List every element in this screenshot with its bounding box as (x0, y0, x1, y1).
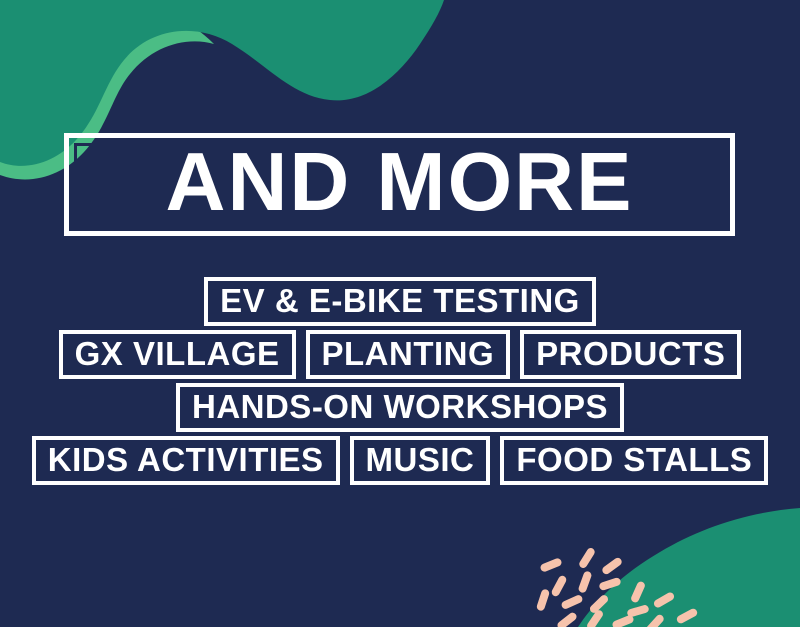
confetti-cluster (536, 547, 699, 627)
tag-box: GX VILLAGE (59, 330, 296, 379)
tag-row-1: EV & E-BIKE TESTING (0, 277, 800, 326)
tag-label: FOOD STALLS (516, 443, 752, 479)
tag-row-2: GX VILLAGE PLANTING PRODUCTS (0, 330, 800, 379)
tag-box: KIDS ACTIVITIES (32, 436, 340, 485)
tag-label: PLANTING (322, 337, 495, 373)
tag-label: MUSIC (366, 443, 475, 479)
tag-box: PRODUCTS (520, 330, 741, 379)
tag-box: MUSIC (350, 436, 491, 485)
tag-box: PLANTING (306, 330, 511, 379)
tag-label: KIDS ACTIVITIES (48, 443, 324, 479)
bottom-right-teal-blob (578, 508, 800, 627)
headline-text: AND MORE (166, 140, 634, 229)
tag-box: FOOD STALLS (500, 436, 768, 485)
tag-row-3: HANDS-ON WORKSHOPS (0, 383, 800, 432)
tag-box: HANDS-ON WORKSHOPS (176, 383, 624, 432)
tag-label: EV & E-BIKE TESTING (220, 284, 580, 320)
tag-label: GX VILLAGE (75, 337, 280, 373)
tag-row-4: KIDS ACTIVITIES MUSIC FOOD STALLS (0, 436, 800, 485)
tag-label: HANDS-ON WORKSHOPS (192, 390, 608, 426)
headline-box: AND MORE (64, 133, 735, 236)
poster-canvas: AND MORE EV & E-BIKE TESTING GX VILLAGE … (0, 0, 800, 627)
tag-box: EV & E-BIKE TESTING (204, 277, 596, 326)
tag-label: PRODUCTS (536, 337, 725, 373)
tag-rows: EV & E-BIKE TESTING GX VILLAGE PLANTING … (0, 277, 800, 485)
